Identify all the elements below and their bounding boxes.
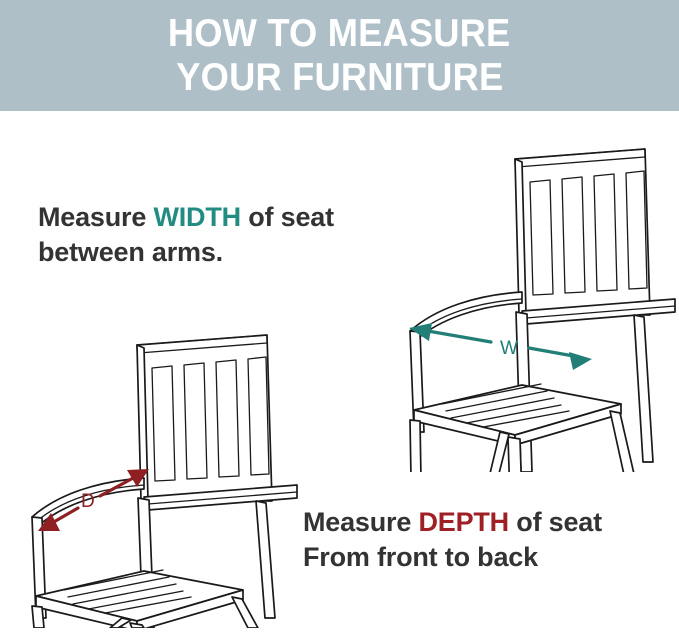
backrest-slat [594,174,617,291]
depth-caption-line-1: Measure DEPTH of seat [303,505,602,540]
chair-illustration-width: W [396,132,679,472]
width-caption-suffix: of seat [241,202,334,232]
depth-caption: Measure DEPTH of seat From front to back [303,505,602,575]
width-arrow: W [409,323,592,370]
backrest-slat [152,366,175,481]
backrest-slat [216,360,239,477]
backrest-slat [248,357,269,475]
leg-rear-right-lower [610,411,640,472]
header-banner: HOW TO MEASURE YOUR FURNITURE [0,0,679,111]
width-arrow-shaft-left [422,330,491,342]
backrest-slat [184,363,207,479]
leg-front-left [32,606,44,628]
width-arrow-head-right [569,352,592,370]
width-keyword: WIDTH [153,202,240,232]
header-title-line-1: HOW TO MEASURE [168,12,510,56]
width-caption: Measure WIDTH of seat between arms. [38,200,334,270]
leg-rear-right-lower [232,597,258,628]
header-title-line-2: YOUR FURNITURE [176,56,503,100]
depth-caption-suffix: of seat [509,507,602,537]
depth-keyword: DEPTH [418,507,509,537]
backrest-slat [626,171,647,289]
backrest-slat [530,180,553,295]
chair-illustration-depth: D [18,318,308,628]
width-caption-line-2: between arms. [38,235,334,270]
leg-rear-right [256,501,275,618]
width-caption-line-1: Measure WIDTH of seat [38,200,334,235]
infographic-root: HOW TO MEASURE YOUR FURNITURE Measure WI… [0,0,679,642]
width-arrow-label: W [500,338,518,359]
depth-arrow: D [38,469,149,531]
backrest-slat [562,177,585,293]
depth-caption-prefix: Measure [303,507,418,537]
leg-rear-right [634,315,653,462]
depth-caption-line-2: From front to back [303,540,602,575]
leg-front-left [410,420,422,472]
width-caption-prefix: Measure [38,202,153,232]
depth-arrow-label: D [81,491,95,512]
